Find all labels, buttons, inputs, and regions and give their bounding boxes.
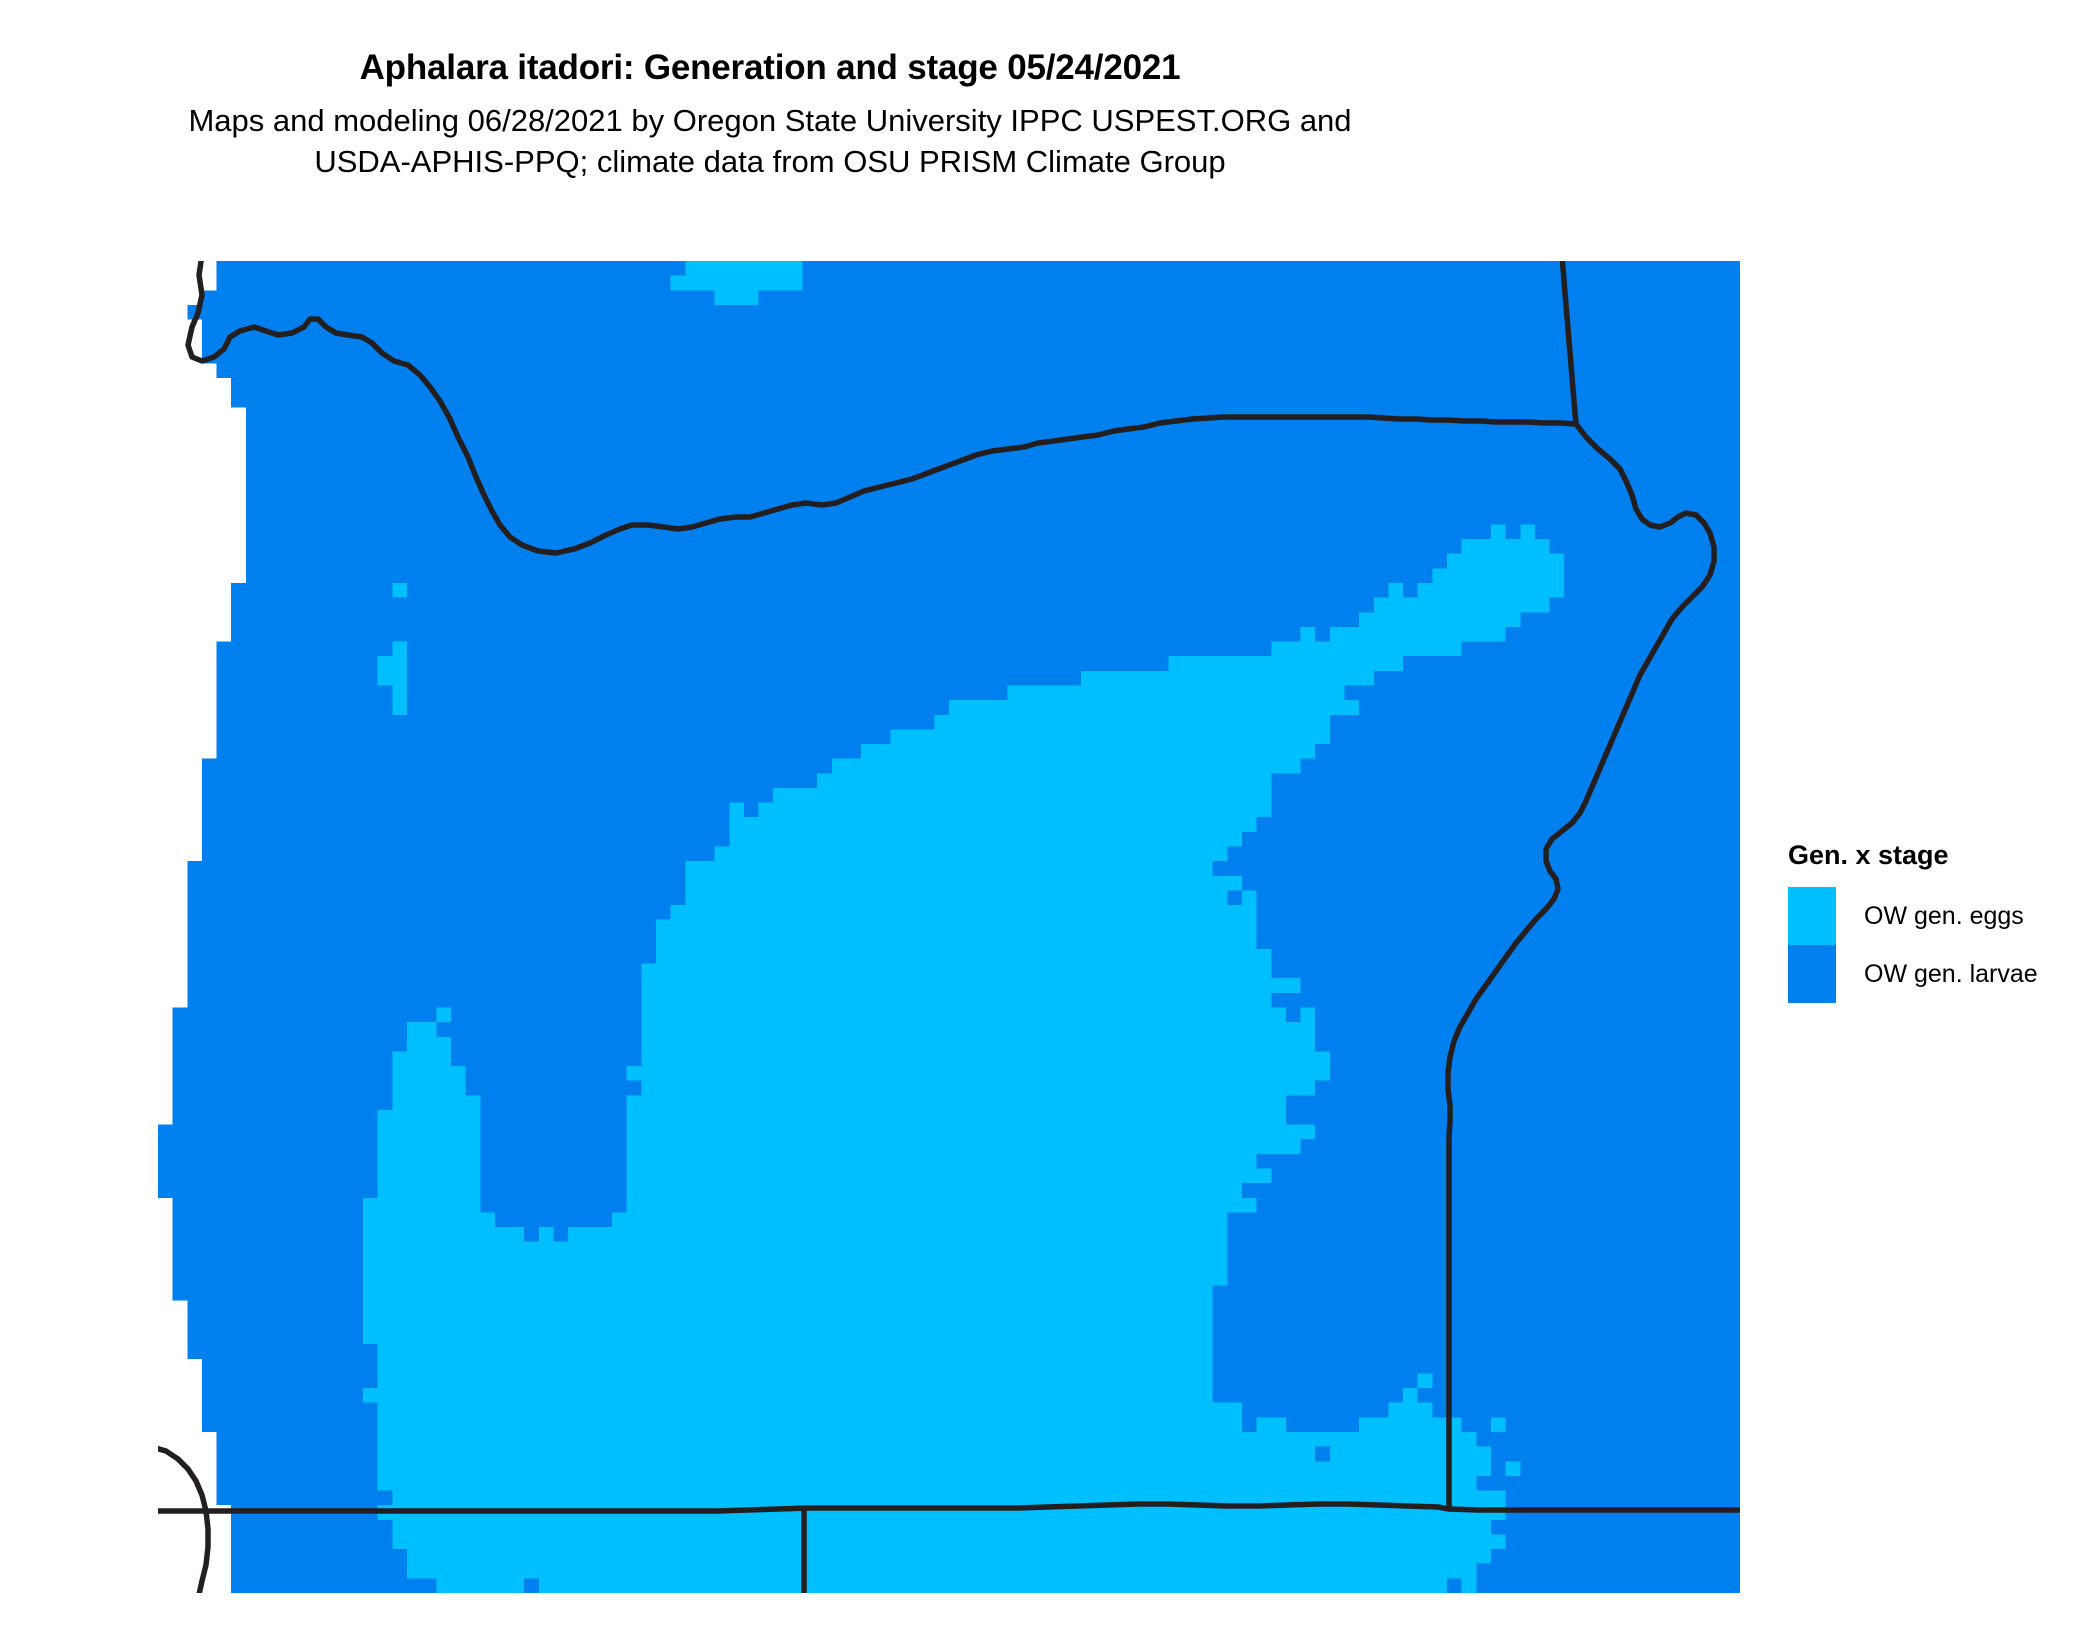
washington-idaho-border: [1562, 261, 1576, 424]
legend-swatch-ow-gen-eggs: [1788, 887, 1836, 945]
legend-item-ow-gen-eggs[interactable]: OW gen. eggs: [1788, 887, 2078, 945]
title-block: Aphalara itadori: Generation and stage 0…: [0, 46, 1540, 182]
legend-swatch-ow-gen-larvae: [1788, 945, 1836, 1003]
map-panel[interactable]: [158, 261, 1740, 1593]
oregon-washington-columbia-border: [538, 417, 1576, 553]
map-page: Aphalara itadori: Generation and stage 0…: [0, 0, 2100, 1645]
legend-item-ow-gen-larvae[interactable]: OW gen. larvae: [1788, 945, 2078, 1003]
subtitle-line-1: Maps and modeling 06/28/2021 by Oregon S…: [0, 100, 1540, 141]
legend-label-ow-gen-eggs: OW gen. eggs: [1864, 902, 2024, 931]
oregon-california-nevada-border: [158, 1504, 1740, 1511]
oregon-idaho-border: [1448, 424, 1714, 1509]
state-boundaries-overlay: [158, 261, 1740, 1593]
subtitle-line-2: USDA-APHIS-PPQ; climate data from OSU PR…: [0, 141, 1540, 182]
oregon-coastline-border: [188, 261, 538, 551]
page-title: Aphalara itadori: Generation and stage 0…: [0, 46, 1540, 90]
california-coastline-border: [158, 1447, 208, 1593]
legend-title: Gen. x stage: [1788, 840, 2078, 871]
legend: Gen. x stage OW gen. eggs OW gen. larvae: [1788, 840, 2078, 1003]
legend-label-ow-gen-larvae: OW gen. larvae: [1864, 960, 2038, 989]
page-subtitle: Maps and modeling 06/28/2021 by Oregon S…: [0, 100, 1540, 182]
